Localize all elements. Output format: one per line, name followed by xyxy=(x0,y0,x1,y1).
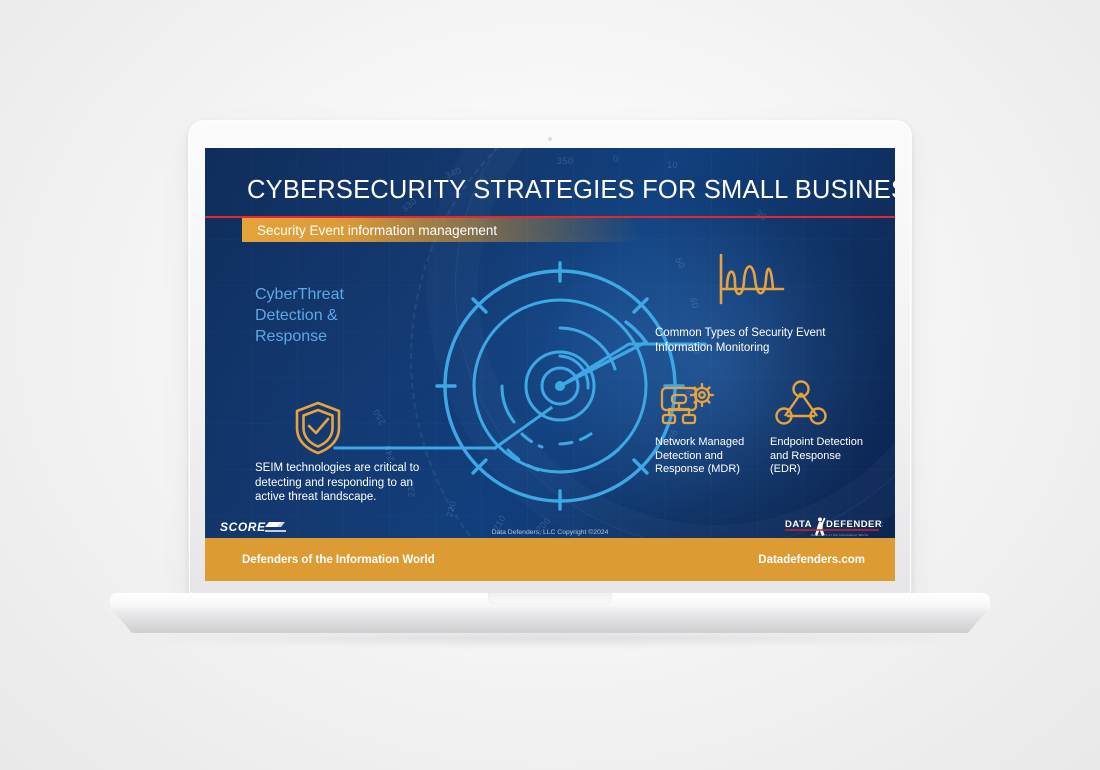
node-triangle-icon xyxy=(775,380,827,426)
laptop-mockup: 350 0 10 20 30 340 330 50 60 70 80 90 25… xyxy=(0,0,1100,770)
left-heading-line-2: Detection & xyxy=(255,305,344,326)
laptop-screen: 350 0 10 20 30 340 330 50 60 70 80 90 25… xyxy=(205,148,895,581)
network-gear-icon xyxy=(660,382,716,426)
score-logo: SCORE xyxy=(219,518,299,540)
laptop-trackpad-notch xyxy=(488,593,612,605)
presentation-slide: 350 0 10 20 30 340 330 50 60 70 80 90 25… xyxy=(205,148,895,581)
svg-text:SCORE: SCORE xyxy=(220,520,266,534)
footer-website[interactable]: Datadefenders.com xyxy=(758,554,865,566)
mdr-label: Network Managed Detection and Response (… xyxy=(655,436,757,477)
webcam-icon xyxy=(548,137,552,141)
left-heading-line-1: CyberThreat xyxy=(255,284,344,305)
svg-text:Defenders of the Information W: Defenders of the Information World xyxy=(811,533,868,537)
footer-gold-bar: Defenders of the Information World Datad… xyxy=(205,538,895,581)
line-chart-waveform-icon xyxy=(713,253,791,307)
laptop-lid: 350 0 10 20 30 340 330 50 60 70 80 90 25… xyxy=(188,120,912,595)
laptop-base xyxy=(110,593,990,635)
footer-tagline: Defenders of the Information World xyxy=(242,554,435,566)
edr-label: Endpoint Detection and Response (EDR) xyxy=(770,436,870,477)
left-heading-line-3: Response xyxy=(255,326,344,347)
svg-text:DATA: DATA xyxy=(785,519,812,530)
left-body-text: SEIM technologies are critical to detect… xyxy=(255,461,433,505)
svg-text:DEFENDERS: DEFENDERS xyxy=(826,519,883,530)
right-heading: Common Types of Security Event Informati… xyxy=(655,326,865,355)
laptop-base-front xyxy=(110,607,990,633)
shield-check-icon xyxy=(293,400,343,456)
left-heading: CyberThreat Detection & Response xyxy=(255,284,344,347)
